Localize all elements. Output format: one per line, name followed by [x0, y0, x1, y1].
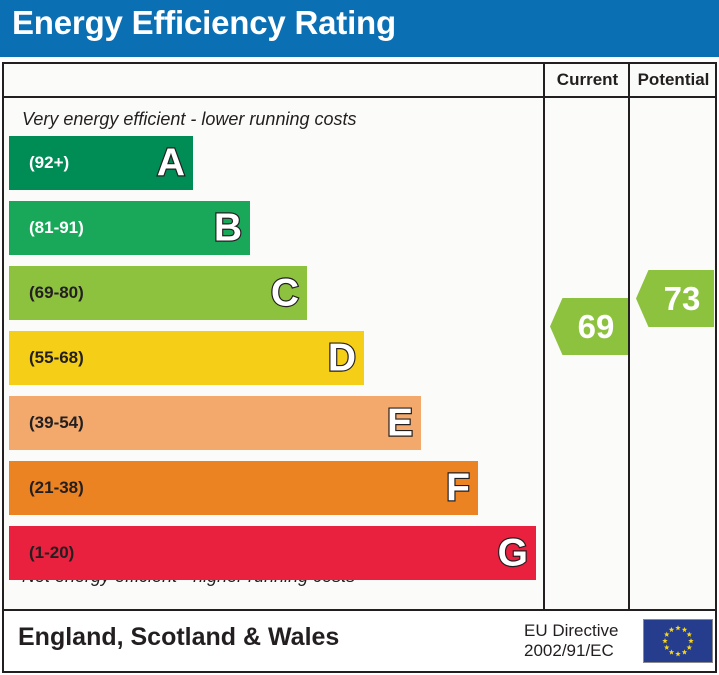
band-letter-f: F [446, 469, 470, 508]
rating-arrow-potential: 73 [636, 270, 714, 327]
band-letter-b: B [214, 209, 242, 248]
band-letter-g: G [498, 534, 528, 573]
rating-value-potential: 73 [664, 280, 701, 317]
page-title: Energy Efficiency Rating [12, 4, 396, 42]
column-header-potential: Potential [630, 64, 717, 96]
eu-flag-icon [643, 619, 713, 663]
band-range-d: (55-68) [29, 331, 84, 385]
band-range-a: (92+) [29, 136, 69, 190]
chart-title-bar: Energy Efficiency Rating [0, 0, 719, 57]
band-d: (55-68)D [9, 331, 364, 385]
rating-table: Current Potential Very energy efficient … [2, 62, 717, 611]
certificate-footer: England, Scotland & Wales EU Directive 2… [2, 611, 717, 673]
band-f: (21-38)F [9, 461, 478, 515]
column-header-current: Current [545, 64, 630, 96]
band-range-e: (39-54) [29, 396, 84, 450]
divider-bands-current [543, 64, 545, 609]
band-range-b: (81-91) [29, 201, 84, 255]
band-range-f: (21-38) [29, 461, 84, 515]
eu-stars-icon [644, 620, 712, 662]
footer-directive-line2: 2002/91/EC [524, 641, 618, 661]
band-g: (1-20)G [9, 526, 536, 580]
band-letter-e: E [387, 404, 413, 443]
band-b: (81-91)B [9, 201, 250, 255]
band-range-c: (69-80) [29, 266, 84, 320]
band-c: (69-80)C [9, 266, 307, 320]
divider-current-potential [628, 64, 630, 609]
band-e: (39-54)E [9, 396, 421, 450]
column-header-row: Current Potential [4, 64, 715, 98]
band-a: (92+)A [9, 136, 193, 190]
band-letter-a: A [157, 144, 185, 183]
rating-arrow-current: 69 [550, 298, 628, 355]
band-letter-c: C [271, 274, 299, 313]
footer-region-label: England, Scotland & Wales [18, 623, 339, 652]
footer-directive-line1: EU Directive [524, 621, 618, 641]
rating-value-current: 69 [578, 308, 615, 345]
band-range-g: (1-20) [29, 526, 74, 580]
band-letter-d: D [328, 339, 356, 378]
bands-area: Very energy efficient - lower running co… [4, 98, 541, 609]
footer-directive: EU Directive 2002/91/EC [524, 621, 618, 661]
caption-efficient: Very energy efficient - lower running co… [22, 109, 357, 130]
epc-certificate-chart: Energy Efficiency Rating Current Potenti… [0, 0, 719, 675]
